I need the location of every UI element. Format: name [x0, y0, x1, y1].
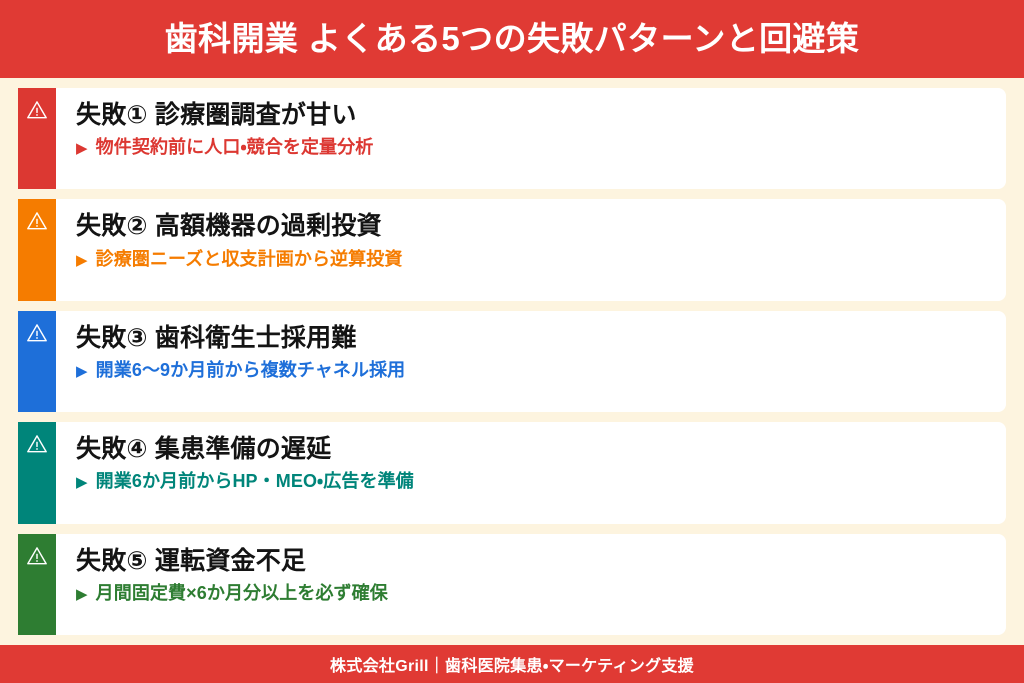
- card-title: 失敗① 診療圏調査が甘い: [76, 100, 988, 131]
- warning-triangle-icon: [26, 545, 48, 567]
- failure-card-3: 失敗③ 歯科衛生士採用難 ▶ 開業6〜9か月前から複数チャネル採用: [18, 311, 1006, 412]
- triangle-right-icon: ▶: [76, 141, 88, 156]
- triangle-right-icon: ▶: [76, 253, 88, 268]
- card-title: 失敗③ 歯科衛生士採用難: [76, 323, 988, 354]
- failure-card-2: 失敗② 高額機器の過剰投資 ▶ 診療圏ニーズと収支計画から逆算投資: [18, 199, 1006, 300]
- failure-card-5: 失敗⑤ 運転資金不足 ▶ 月間固定費×6か月分以上を必ず確保: [18, 534, 1006, 635]
- card-body: 失敗⑤ 運転資金不足 ▶ 月間固定費×6か月分以上を必ず確保: [56, 534, 1006, 635]
- card-body: 失敗③ 歯科衛生士採用難 ▶ 開業6〜9か月前から複数チャネル採用: [56, 311, 1006, 412]
- failure-card-1: 失敗① 診療圏調査が甘い ▶ 物件契約前に人口・競合を定量分析: [18, 88, 1006, 189]
- failure-pattern-list: 失敗① 診療圏調査が甘い ▶ 物件契約前に人口・競合を定量分析 失敗② 高額機器…: [0, 78, 1024, 645]
- card-solution-row: ▶ 診療圏ニーズと収支計画から逆算投資: [76, 248, 988, 271]
- slide-root: 歯科開業 よくある5つの失敗パターンと回避策 失敗① 診療圏調査が甘い ▶ 物件…: [0, 0, 1024, 683]
- triangle-right-icon: ▶: [76, 364, 88, 379]
- card-accent-bar: [18, 88, 56, 189]
- card-title: 失敗④ 集患準備の遅延: [76, 434, 988, 465]
- failure-card-4: 失敗④ 集患準備の遅延 ▶ 開業6か月前からHP・MEO・広告を準備: [18, 422, 1006, 523]
- card-accent-bar: [18, 311, 56, 412]
- card-solution-text: 物件契約前に人口・競合を定量分析: [96, 136, 374, 159]
- warning-triangle-icon: [26, 322, 48, 344]
- card-body: 失敗④ 集患準備の遅延 ▶ 開業6か月前からHP・MEO・広告を準備: [56, 422, 1006, 523]
- warning-triangle-icon: [26, 433, 48, 455]
- card-solution-row: ▶ 物件契約前に人口・競合を定量分析: [76, 136, 988, 159]
- card-title: 失敗② 高額機器の過剰投資: [76, 211, 988, 242]
- card-accent-bar: [18, 534, 56, 635]
- card-body: 失敗② 高額機器の過剰投資 ▶ 診療圏ニーズと収支計画から逆算投資: [56, 199, 1006, 300]
- warning-triangle-icon: [26, 99, 48, 121]
- card-solution-text: 開業6〜9か月前から複数チャネル採用: [96, 359, 406, 382]
- card-solution-text: 診療圏ニーズと収支計画から逆算投資: [96, 248, 403, 271]
- card-title: 失敗⑤ 運転資金不足: [76, 546, 988, 577]
- triangle-right-icon: ▶: [76, 587, 88, 602]
- warning-triangle-icon: [26, 210, 48, 232]
- page-title: 歯科開業 よくある5つの失敗パターンと回避策: [165, 21, 860, 57]
- footer-credit: 株式会社Grill｜歯科医院集患・マーケティング支援: [330, 652, 694, 676]
- card-solution-text: 月間固定費×6か月分以上を必ず確保: [96, 582, 388, 605]
- triangle-right-icon: ▶: [76, 475, 88, 490]
- card-accent-bar: [18, 422, 56, 523]
- slide-header: 歯科開業 よくある5つの失敗パターンと回避策: [0, 0, 1024, 78]
- card-solution-row: ▶ 開業6〜9か月前から複数チャネル採用: [76, 359, 988, 382]
- slide-footer: 株式会社Grill｜歯科医院集患・マーケティング支援: [0, 645, 1024, 683]
- card-accent-bar: [18, 199, 56, 300]
- card-solution-row: ▶ 開業6か月前からHP・MEO・広告を準備: [76, 470, 988, 493]
- card-solution-row: ▶ 月間固定費×6か月分以上を必ず確保: [76, 582, 988, 605]
- card-solution-text: 開業6か月前からHP・MEO・広告を準備: [96, 470, 414, 493]
- card-body: 失敗① 診療圏調査が甘い ▶ 物件契約前に人口・競合を定量分析: [56, 88, 1006, 189]
